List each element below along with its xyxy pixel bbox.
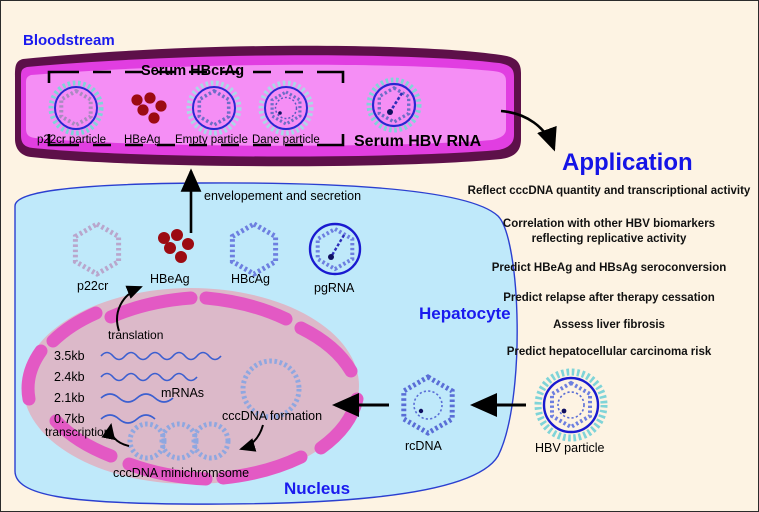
cyto-label-p22cr: p22cr: [77, 279, 108, 293]
rcdna-label: rcDNA: [405, 439, 442, 453]
particle-label-empty: Empty particle: [175, 134, 248, 146]
hbv-particle-label: HBV particle: [535, 441, 604, 455]
nucleus-label: Nucleus: [284, 479, 350, 499]
diagram-shapes-layer: [1, 1, 759, 512]
serum-hbcrag-label: Serum HBcrAg: [141, 63, 244, 79]
application-item-1: Reflect cccDNA quantity and transcriptio…: [464, 184, 754, 198]
hbv-particle-icon: [538, 372, 604, 438]
cyto-label-hbcag: HBcAg: [231, 272, 270, 286]
particle-label-p22cr: p22cr particle: [37, 134, 106, 146]
application-item-2b: reflecting replicative activity: [464, 232, 754, 246]
cccdna-formation-label: cccDNA formation: [222, 409, 322, 423]
application-title: Application: [562, 149, 693, 177]
mrna-size-1: 2.4kb: [54, 370, 85, 384]
serum-hbv-rna-label: Serum HBV RNA: [354, 133, 481, 151]
envelopement-secretion-label: envelopement and secretion: [204, 189, 361, 203]
hepatocyte-label: Hepatocyte: [419, 304, 511, 324]
translation-label: translation: [108, 328, 163, 342]
cccdna-minichromosome-label: cccDNA minichromsome: [113, 466, 249, 480]
mrna-size-2: 2.1kb: [54, 391, 85, 405]
cyto-label-pgrna: pgRNA: [314, 281, 354, 295]
application-item-2a: Correlation with other HBV biomarkers: [464, 217, 754, 231]
transcription-label: transcription: [45, 425, 110, 439]
particle-label-dane: Dane particle: [252, 134, 320, 146]
mrna-size-3: 0.7kb: [54, 412, 85, 426]
mrnas-label: mRNAs: [161, 386, 204, 400]
cyto-label-hbeag: HBeAg: [150, 272, 190, 286]
application-item-3: Predict HBeAg and HBsAg seroconversion: [464, 261, 754, 275]
application-item-6: Predict hepatocellular carcinoma risk: [464, 345, 754, 359]
mrna-size-0: 3.5kb: [54, 349, 85, 363]
bloodstream-label: Bloodstream: [23, 32, 115, 49]
particle-label-hbeag: HBeAg: [124, 134, 160, 146]
figure-canvas: Bloodstream Serum HBcrAg Serum HBV RNA p…: [0, 0, 759, 512]
